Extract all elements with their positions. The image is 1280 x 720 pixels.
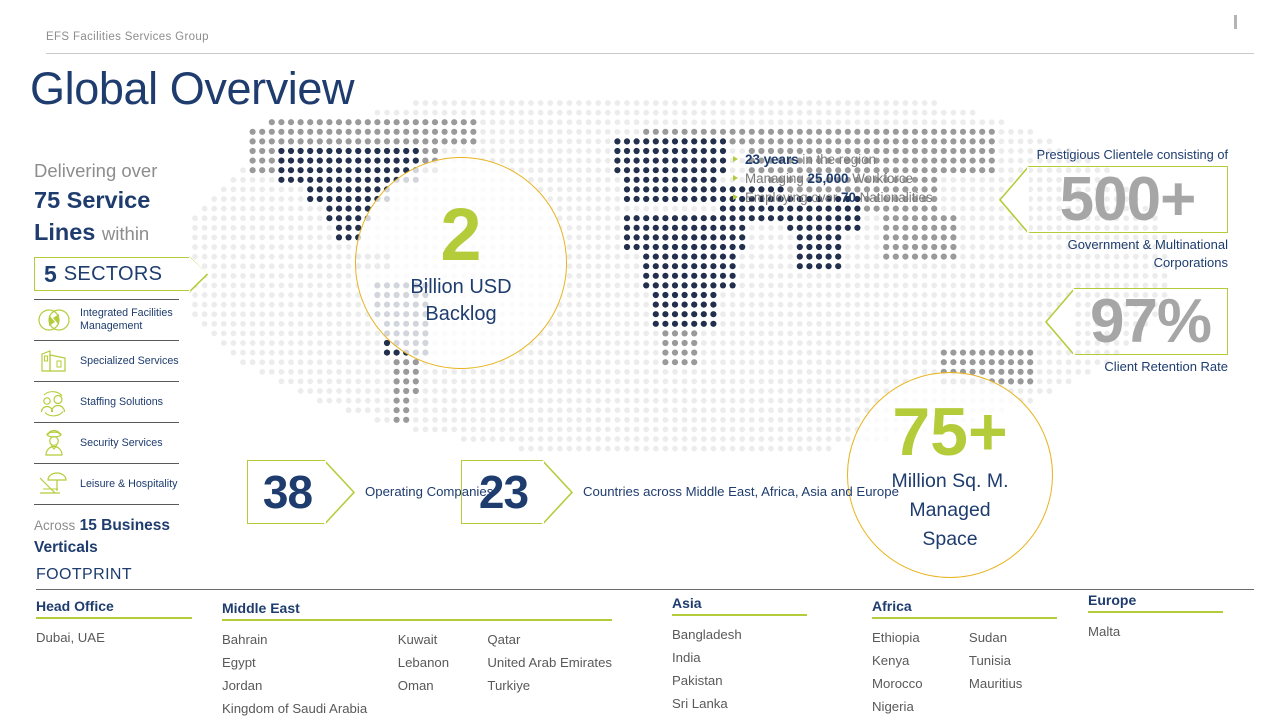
clientele-caption-below: Government & Multinational Corporations [1028,236,1228,271]
footprint-heading-underline [672,614,807,616]
within-word: within [102,223,149,244]
bullet-text: Managing 25,000 Workforce [745,171,913,186]
header-divider [46,53,1254,54]
leisure-hospitality-icon [34,469,74,499]
sectors-chip: 5 SECTORS [34,257,189,291]
footprint-region-heading: Europe [1088,592,1223,608]
footprint-region-head-office: Head OfficeDubai, UAE [36,598,192,649]
triangle-bullet-icon [733,156,738,162]
footprint-country: Pakistan [672,669,742,692]
slide-global-overview: EFS Facilities Services Group Global Ove… [0,0,1280,720]
footprint-country-list: BahrainEgyptJordanKingdom of Saudi Arabi… [222,628,398,720]
footprint-region-middle-east: Middle EastBahrainEgyptJordanKingdom of … [222,600,612,720]
footprint-country: Sri Lanka [672,692,742,715]
footprint-country: Turkiye [487,674,612,697]
chevron-left-icon [1045,288,1075,356]
footprint-country: Oman [398,674,488,697]
footprint-country: Qatar [487,628,612,651]
bullet-item: Managing 25,000 Workforce [733,171,933,186]
delivering-lead: Delivering over [34,158,214,184]
countries-stat: 23 Countries across Middle East, Africa,… [461,460,899,524]
sector-row[interactable]: Staffing Solutions [34,381,179,422]
org-label: EFS Facilities Services Group [46,31,209,43]
service-lines-text: 75 Service Lines within [34,184,214,250]
operating-companies-chevron-box: 38 [247,460,325,524]
footprint-region-heading: Head Office [36,598,192,614]
chevron-right-icon [189,256,208,293]
footprint-heading-underline [36,617,192,619]
chevron-right-icon [542,460,573,525]
countries-chevron-box: 23 [461,460,543,524]
footprint-country-list: EthiopiaKenyaMoroccoNigeria [872,626,969,718]
footprint-columns: Malta [1088,620,1223,643]
footprint-region-africa: AfricaEthiopiaKenyaMoroccoNigeriaSudanTu… [872,598,1057,718]
triangle-bullet-icon [733,175,738,181]
sector-label: Integrated Facilities Management [80,307,179,332]
footprint-country: Jordan [222,674,398,697]
footprint-country: Dubai, UAE [36,626,105,649]
specialized-services-icon [34,346,74,376]
sector-row[interactable]: Specialized Services [34,340,179,381]
footprint-country-list: QatarUnited Arab EmiratesTurkiye [487,628,612,720]
managed-space-line3: Space [922,526,977,552]
sector-row[interactable]: Integrated Facilities Management [34,299,179,340]
footprint-country: Lebanon [398,651,488,674]
footprint-country-list: BangladeshIndiaPakistanSri Lanka [672,623,742,715]
footprint-country: Ethiopia [872,626,969,649]
business-verticals: Across 15 Business Verticals [34,515,209,559]
chevron-left-icon [999,166,1029,234]
footprint-country: Morocco [872,672,969,695]
footprint-country: Malta [1088,620,1120,643]
footprint-divider [36,589,1254,590]
sectors-label: SECTORS [64,263,162,286]
clientele-caption-above: Prestigious Clientele consisting of [1028,146,1228,163]
managed-space-line2: Managed [909,497,990,523]
retention-caption: Client Retention Rate [1074,359,1228,374]
footprint-heading-underline [1088,611,1223,613]
triangle-bullet-icon [733,194,738,200]
clientele-stat: Prestigious Clientele consisting of 500+… [1028,146,1228,271]
bullet-text: Employing over 70 Nationalities [745,190,933,205]
footprint-country: Sudan [969,626,1057,649]
footprint-country: Kuwait [398,628,488,651]
footprint-country-list: Dubai, UAE [36,626,105,649]
staffing-solutions-icon [34,387,74,417]
sector-row[interactable]: Leisure & Hospitality [34,463,179,505]
retention-chevron-box: 97% [1074,288,1228,355]
operating-companies-stat: 38 Operating Companies [247,460,493,524]
footprint-heading-underline [222,619,612,621]
sector-label: Specialized Services [80,355,179,368]
countries-number: 23 [479,469,528,515]
footprint-region-heading: Asia [672,595,807,611]
footprint-country-list: SudanTunisiaMauritius [969,626,1057,718]
footprint-country: Bahrain [222,628,398,651]
footprint-country: Kingdom of Saudi Arabia [222,697,398,720]
managed-space-line1: Million Sq. M. [891,468,1008,494]
clientele-number: 500+ [1060,169,1196,231]
footprint-region-heading: Africa [872,598,1057,614]
footprint-region-europe: EuropeMalta [1088,592,1223,643]
left-panel: Delivering over 75 Service Lines within … [34,158,214,559]
verticals-prefix: Across [34,518,75,533]
bullet-item: 23 years in the region [733,152,933,167]
footprint-country: Egypt [222,651,398,674]
retention-stat: 97% Client Retention Rate [1074,288,1228,374]
header-tick-mark [1234,15,1237,29]
security-services-icon [34,428,74,458]
footprint-country: Bangladesh [672,623,742,646]
footprint-country: United Arab Emirates [487,651,612,674]
footprint-country-list: Malta [1088,620,1120,643]
chevron-right-icon [324,460,355,525]
clientele-chevron-box: 500+ [1028,166,1228,233]
sector-row[interactable]: Security Services [34,422,179,463]
highlight-bullets: 23 years in the region Managing 25,000 W… [733,152,933,209]
bullet-item: Employing over 70 Nationalities [733,190,933,205]
footprint-columns: BahrainEgyptJordanKingdom of Saudi Arabi… [222,628,612,720]
sector-list: Integrated Facilities Management Special… [34,299,179,505]
backlog-label-line1: Billion USD [410,274,511,301]
footprint-country: Nigeria [872,695,969,718]
footprint-country-list: KuwaitLebanonOman [398,628,488,720]
footprint-heading-underline [872,617,1057,619]
backlog-label-line2: Backlog [425,301,496,328]
backlog-number: 2 [440,198,481,272]
backlog-circle-badge: 2 Billion USD Backlog [355,157,567,369]
footprint-columns: EthiopiaKenyaMoroccoNigeriaSudanTunisiaM… [872,626,1057,718]
footprint-columns: Dubai, UAE [36,626,192,649]
footprint-country: Mauritius [969,672,1057,695]
managed-space-number: 75+ [892,399,1007,465]
sectors-number: 5 [44,261,57,288]
sector-label: Security Services [80,437,163,450]
footprint-country: Kenya [872,649,969,672]
footprint-columns: BangladeshIndiaPakistanSri Lanka [672,623,807,715]
integrated-facilities-management-icon [34,305,74,335]
footprint-title: FOOTPRINT [36,566,132,584]
footprint-region-heading: Middle East [222,600,612,616]
footprint-region-asia: AsiaBangladeshIndiaPakistanSri Lanka [672,595,807,715]
operating-companies-number: 38 [263,469,312,515]
sector-label: Staffing Solutions [80,396,163,409]
bullet-text: 23 years in the region [745,152,876,167]
retention-number: 97% [1090,291,1211,353]
sector-label: Leisure & Hospitality [80,478,177,491]
footprint-country: India [672,646,742,669]
countries-caption: Countries across Middle East, Africa, As… [583,483,899,501]
footprint-country: Tunisia [969,649,1057,672]
